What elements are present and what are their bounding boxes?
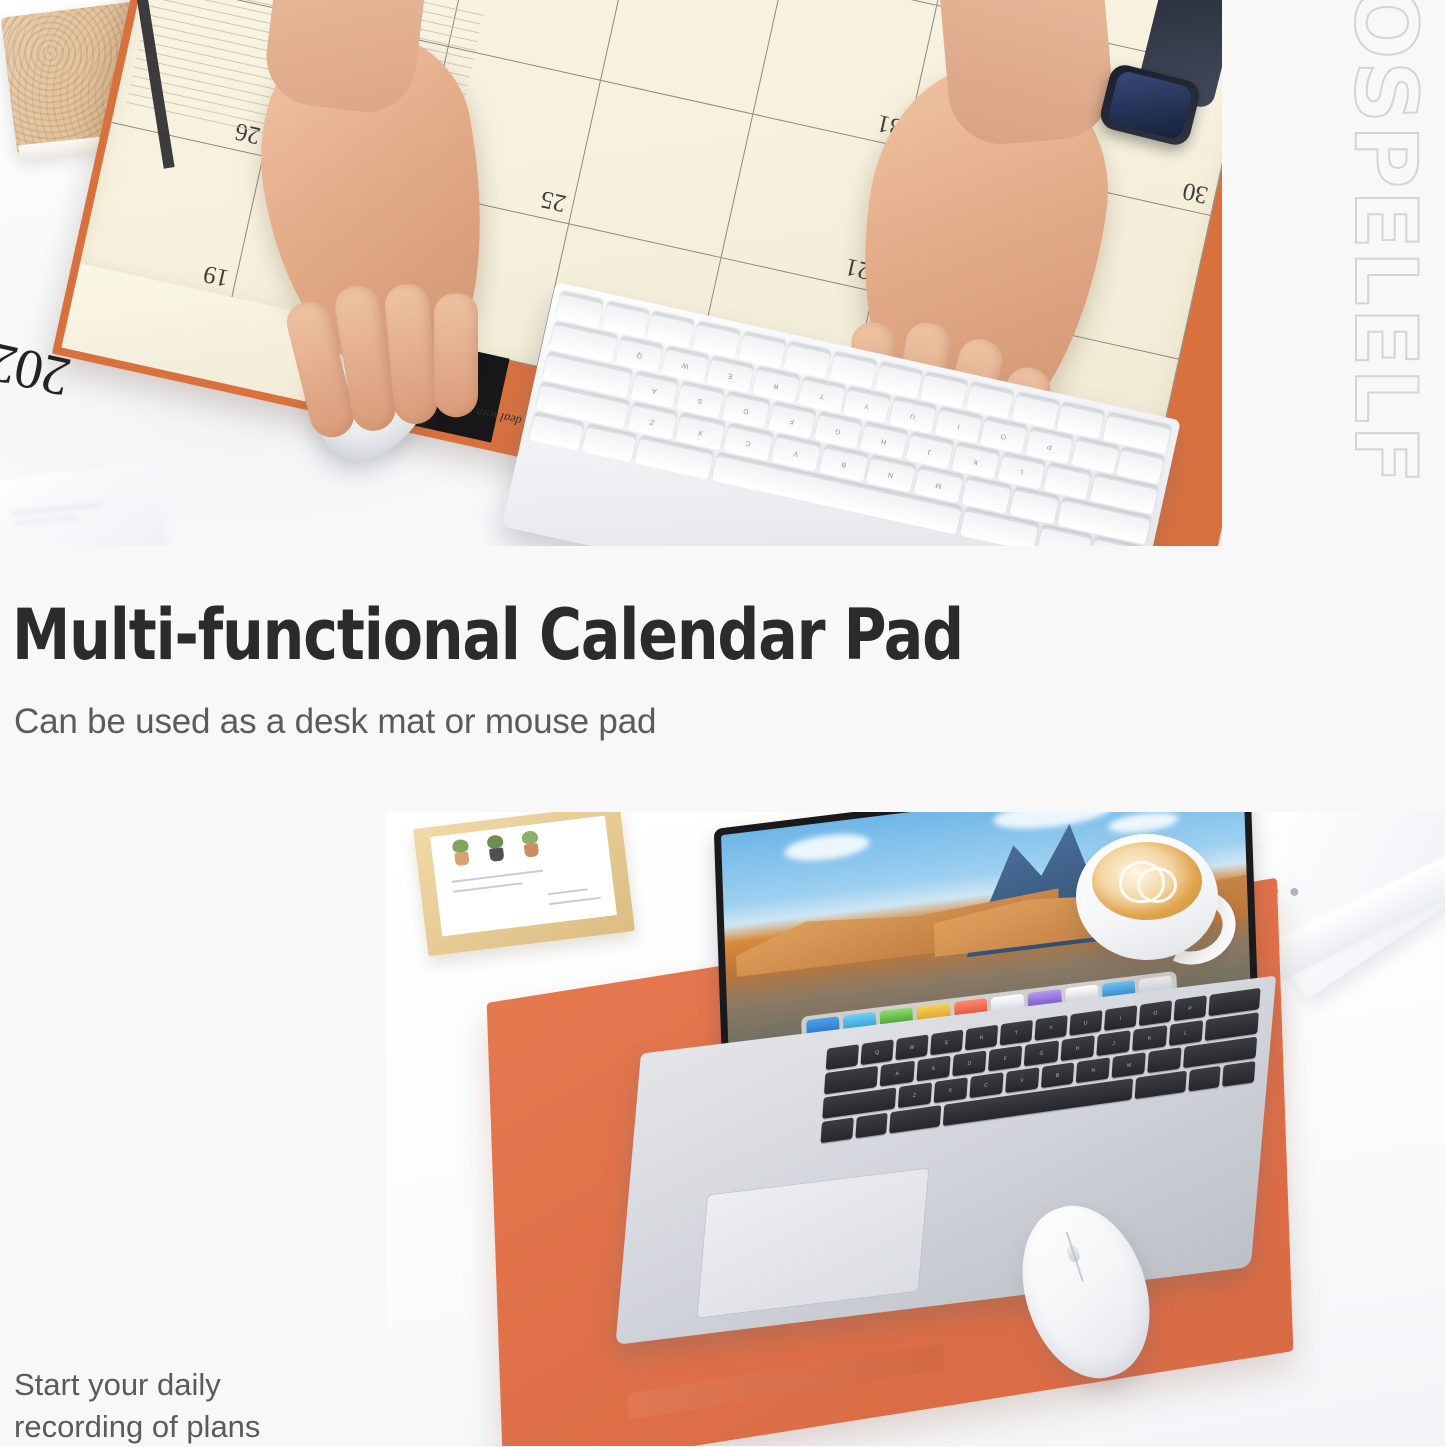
caption-line-2: recording of plans [14, 1406, 344, 1447]
product-marketing-page: OSPELELF AUGUST 2025 JULY 2025 [0, 0, 1445, 1446]
plant-pot-icon [518, 830, 543, 858]
cup-body [1076, 834, 1218, 960]
page-title: Multi-functional Calendar Pad [12, 600, 1221, 670]
bottom-caption: Start your daily recording of plans [14, 1364, 344, 1447]
hero-photo-calendar-pad: AUGUST 2025 JULY 2025 JUNE 2025 MAY 2025 [0, 0, 1222, 546]
latte-cup [1076, 834, 1234, 966]
left-forearm [261, 0, 438, 118]
frame-illustration [449, 830, 543, 867]
right-forearm [931, 0, 1116, 149]
caption-line-1: Start your daily [14, 1364, 344, 1406]
page-subtitle: Can be used as a desk mat or mouse pad [14, 702, 1214, 742]
mouse-scroll-wheel [1066, 1243, 1082, 1263]
plant-pot-icon [449, 838, 474, 866]
plant-pot-icon [483, 834, 508, 862]
brand-watermark-text: OSPELELF [1335, 0, 1435, 486]
secondary-photo-laptop-on-mat: QWER TYUIO P ASDF GHJKL ZXCV BNM [386, 812, 1445, 1446]
brand-watermark: OSPELELF [1325, 0, 1445, 496]
latte-art [1092, 842, 1202, 920]
